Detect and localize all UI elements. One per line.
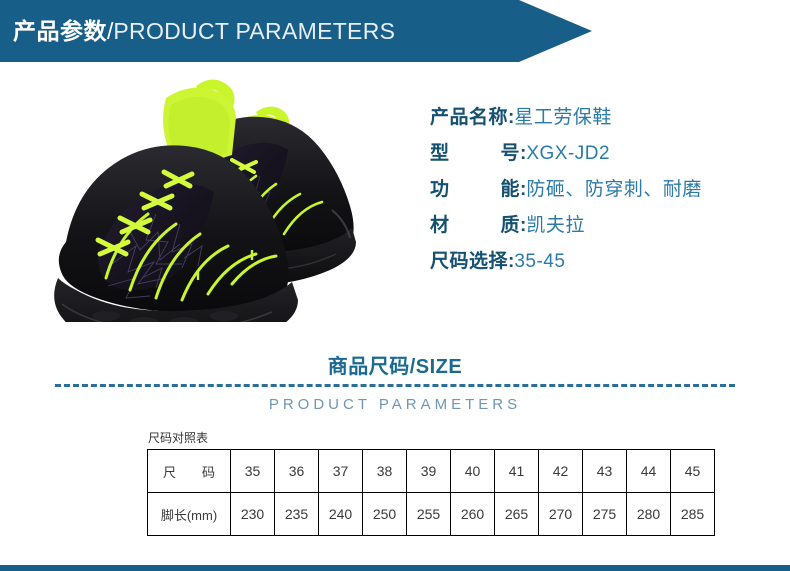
table-cell-foot-length: 270 [539,493,583,536]
spec-row-model: 型号:XGX-JD2 [430,138,780,174]
product-photo-safety-shoes [46,72,438,322]
spec-value-product-name: 星工劳保鞋 [514,102,612,129]
spec-label-model: 型号 [430,138,520,165]
table-cell-size: 37 [319,450,363,493]
spec-row-material: 材质:凯夫拉 [430,210,780,246]
spec-label-product-name: 产品名称 [430,102,508,129]
table-cell-foot-length: 280 [627,493,671,536]
spec-label-size-range: 尺码选择 [430,246,508,273]
size-section-divider [55,384,735,387]
table-cell-size: 44 [627,450,671,493]
table-cell-foot-length: 230 [231,493,275,536]
product-spec-list: 产品名称:星工劳保鞋 型号:XGX-JD2 功能:防砸、防穿刺、耐磨 材质:凯夫… [430,102,780,282]
table-cell-foot-length: 240 [319,493,363,536]
size-section-subheading: PRODUCT PARAMETERS [0,396,790,413]
table-cell-size: 43 [583,450,627,493]
table-cell-size: 35 [231,450,275,493]
spec-value-material: 凯夫拉 [526,210,585,237]
size-chart-table: 尺码 35 36 37 38 39 40 41 42 43 44 45 脚长(m… [147,449,715,536]
table-cell-foot-length: 250 [363,493,407,536]
table-cell-foot-length: 235 [275,493,319,536]
table-row-shoe-size: 尺码 35 36 37 38 39 40 41 42 43 44 45 [148,450,715,493]
spec-row-size-range: 尺码选择:35-45 [430,246,780,282]
table-cell-foot-length: 260 [451,493,495,536]
rowheader-label-shoe-size: 尺码 [163,462,215,481]
table-row-foot-length: 脚长(mm) 230 235 240 250 255 260 265 270 2… [148,493,715,536]
spec-value-model: XGX-JD2 [526,143,610,165]
size-section-heading: 商品尺码/SIZE [0,350,790,379]
size-table-caption: 尺码对照表 [148,429,208,446]
footer-accent-bar [0,565,790,571]
spec-value-size-range: 35-45 [514,251,565,273]
table-cell-size: 42 [539,450,583,493]
spec-row-product-name: 产品名称:星工劳保鞋 [430,102,780,138]
table-cell-size: 38 [363,450,407,493]
banner-title: 产品参数/PRODUCT PARAMETERS [13,20,395,43]
table-cell-size: 45 [671,450,715,493]
table-cell-foot-length: 285 [671,493,715,536]
table-cell-size: 41 [495,450,539,493]
table-cell-size: 36 [275,450,319,493]
banner-title-en: PRODUCT PARAMETERS [113,18,395,44]
spec-row-function: 功能:防砸、防穿刺、耐磨 [430,174,780,210]
page-header-banner: 产品参数/PRODUCT PARAMETERS [0,0,592,62]
spec-label-function: 功能 [430,174,520,201]
table-cell-size: 40 [451,450,495,493]
table-rowheader-shoe-size: 尺码 [148,450,231,493]
spec-value-function: 防砸、防穿刺、耐磨 [526,174,702,201]
banner-title-cn: 产品参数 [13,18,107,44]
table-cell-size: 39 [407,450,451,493]
shoe-illustration [46,72,438,322]
table-cell-foot-length: 265 [495,493,539,536]
table-cell-foot-length: 275 [583,493,627,536]
table-rowheader-foot-length: 脚长(mm) [148,493,231,536]
table-cell-foot-length: 255 [407,493,451,536]
spec-label-material: 材质 [430,210,520,237]
